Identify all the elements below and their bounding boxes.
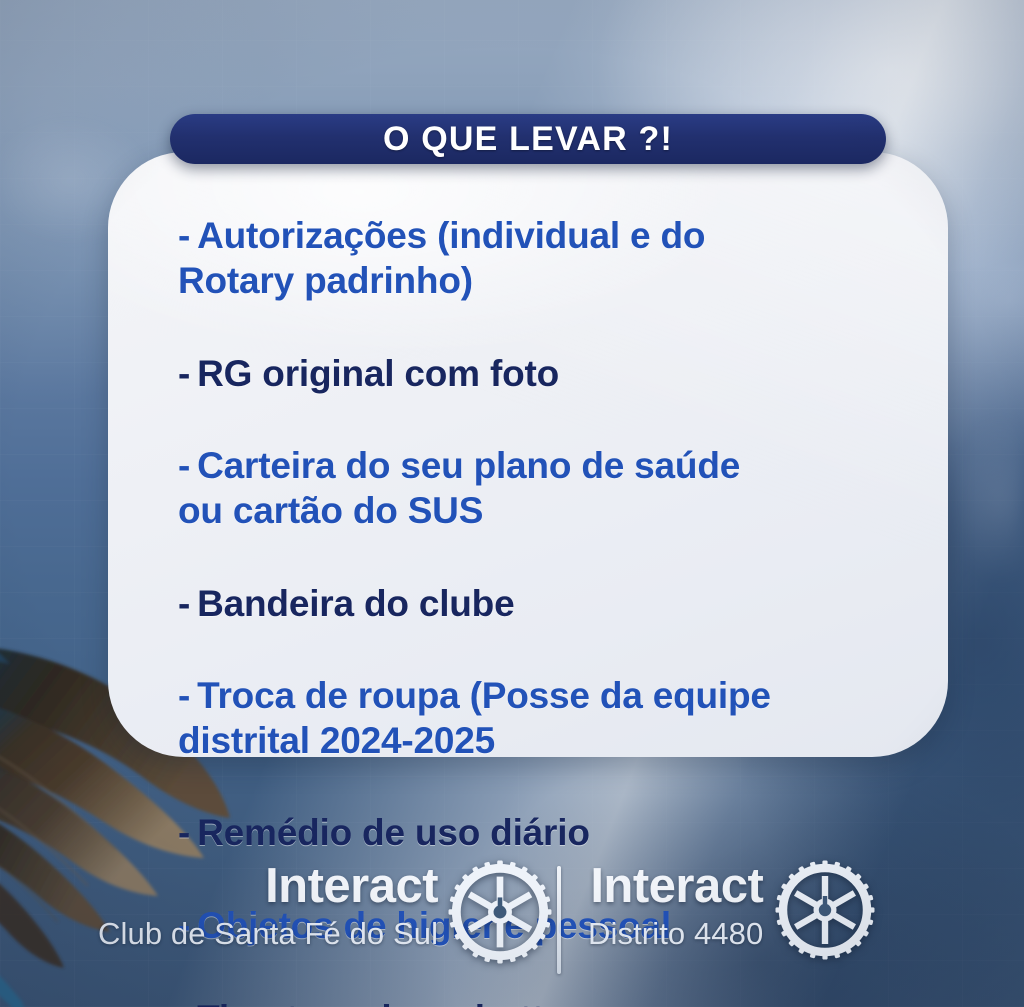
- interact-club-wordmark: Interact Club de Santa Fé do Sul: [98, 862, 438, 954]
- list-item-text: Tirantes, pins e bottons: [197, 998, 609, 1007]
- list-bullet-dash: -: [178, 215, 190, 256]
- list-item-text: Troca de roupa (Posse da equipe distrita…: [178, 675, 771, 760]
- logo-divider: [557, 866, 561, 974]
- list-item: -Remédio de uso diário: [178, 767, 978, 856]
- list-item-text: Remédio de uso diário: [197, 812, 590, 853]
- interact-wordmark-text: Interact: [265, 862, 438, 911]
- interact-district-subtitle: Distrito 4480: [588, 915, 763, 954]
- page-title: O QUE LEVAR ?!: [383, 120, 673, 159]
- list-item: -Bandeira do clube: [178, 537, 978, 626]
- list-bullet-dash: -: [178, 812, 190, 853]
- interact-wordmark-text: Interact: [590, 862, 763, 911]
- list-item: -Troca de roupa (Posse da equipe distrit…: [178, 630, 978, 763]
- list-item: -RG original com foto: [178, 307, 978, 396]
- list-item-text: RG original com foto: [197, 353, 559, 394]
- interact-club-logo: Interact Club de Santa Fé do Sul: [98, 862, 552, 964]
- list-item: -Autorizações (individual e do Rotary pa…: [178, 170, 978, 303]
- interact-district-logo: Interact Distrito 4480: [588, 862, 875, 960]
- list-item-text: Carteira do seu plano de saúde ou cartão…: [178, 445, 740, 530]
- list-item: -Carteira do seu plano de saúde ou cartã…: [178, 400, 978, 533]
- list-bullet-dash: -: [178, 675, 190, 716]
- footer-logos: Interact Club de Santa Fé do Sul: [0, 856, 1024, 986]
- rotary-gear-icon: [775, 860, 875, 960]
- list-item-text: Autorizações (individual e do Rotary pad…: [178, 215, 705, 300]
- rotary-gear-icon: [448, 860, 552, 964]
- header-banner: O QUE LEVAR ?!: [170, 114, 886, 164]
- interact-club-subtitle: Club de Santa Fé do Sul: [98, 915, 438, 954]
- interact-district-wordmark: Interact Distrito 4480: [588, 862, 763, 954]
- list-bullet-dash: -: [178, 998, 190, 1007]
- list-bullet-dash: -: [178, 445, 190, 486]
- list-bullet-dash: -: [178, 583, 190, 624]
- list-item-text: Bandeira do clube: [197, 583, 514, 624]
- poster-canvas: O QUE LEVAR ?! -Autorizações (individual…: [0, 0, 1024, 1007]
- list-bullet-dash: -: [178, 353, 190, 394]
